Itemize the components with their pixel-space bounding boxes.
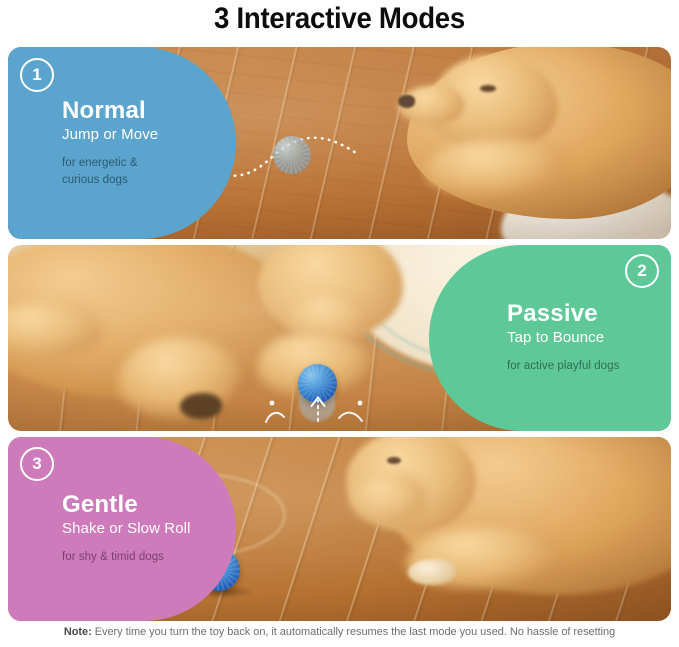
mode-subtitle: Jump or Move — [62, 126, 236, 143]
mode-note: for active playful dogs — [507, 358, 671, 375]
mode-title: Gentle — [62, 492, 236, 517]
mode-badge-3: 3 — [20, 447, 54, 481]
mode-note-line-2: curious dogs — [62, 174, 128, 186]
mode-title: Normal — [62, 98, 236, 123]
mode-badge-2: 2 — [625, 254, 659, 288]
product-feature-graphic: 3 Interactive Modes — [0, 0, 679, 647]
footer-note-text: Every time you turn the toy back on, it … — [92, 626, 615, 638]
mode-panel-normal: Normal Jump or Move for energetic & curi… — [8, 47, 671, 239]
mode-title: Passive — [507, 301, 671, 326]
mode-subtitle: Tap to Bounce — [507, 329, 671, 346]
page-title: 3 Interactive Modes — [27, 2, 652, 36]
mode-subtitle: Shake or Slow Roll — [62, 520, 236, 537]
mode-panel-passive: Passive Tap to Bounce for active playful… — [8, 245, 671, 431]
mode-panel-gentle: Gentle Shake or Slow Roll for shy & timi… — [8, 437, 671, 621]
footer-note-label: Note: — [64, 626, 92, 638]
footer-note: Note: Every time you turn the toy back o… — [0, 626, 679, 638]
mode-note: for shy & timid dogs — [62, 549, 236, 566]
mode-note-line-1: for energetic & — [62, 157, 138, 169]
mode-badge-1: 1 — [20, 58, 54, 92]
mode-note: for energetic & curious dogs — [62, 155, 236, 188]
